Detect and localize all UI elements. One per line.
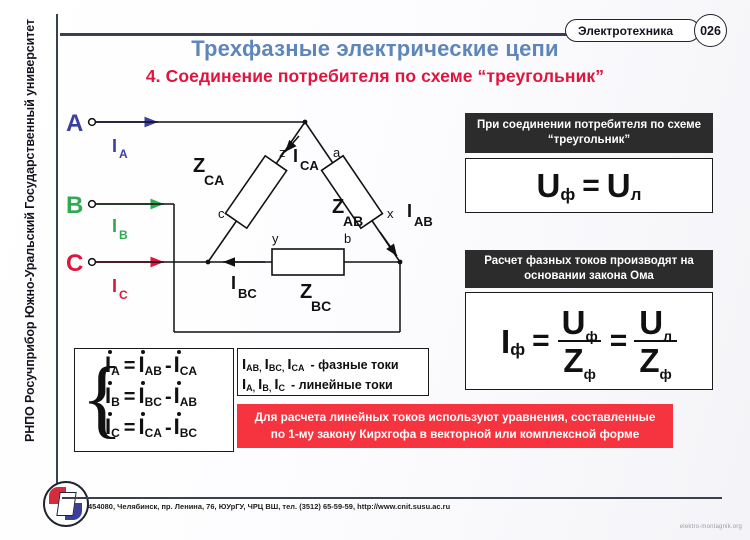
- ohm-f2-den-sym: Z: [639, 342, 659, 379]
- eq3-lhs: IC: [105, 416, 120, 438]
- eq2-equals: =: [124, 385, 136, 409]
- ohm-f1-num-sub: ф: [585, 328, 597, 344]
- svg-text:BC: BC: [238, 286, 257, 301]
- subject-badge: Электротехника: [565, 19, 700, 42]
- svg-text:I: I: [112, 216, 117, 236]
- university-logo-icon: [43, 481, 89, 527]
- terminal-a-node: [89, 119, 96, 126]
- eq2-term1: IBC: [138, 385, 161, 407]
- legend-phase-i3: ICA: [287, 357, 304, 372]
- ohm-fraction-2: Uл Zф: [634, 306, 677, 377]
- equation-row: IC = ICA - IBC: [105, 416, 229, 447]
- svg-text:I: I: [231, 273, 236, 293]
- phase-current-arrow-ab: [380, 232, 397, 256]
- legend-line-i1: IA,: [242, 377, 255, 392]
- slide-number-badge: 026: [694, 14, 727, 47]
- svg-text:B: B: [119, 228, 128, 242]
- eq3-term1: ICA: [138, 416, 161, 438]
- node-label-a: a: [333, 145, 341, 160]
- ohm-equals-2: =: [610, 324, 628, 358]
- watermark-text: elektro-montagnik.org: [680, 524, 742, 530]
- terminal-b-node: [89, 201, 96, 208]
- svg-text:I: I: [112, 136, 117, 156]
- eq1-lhs-sub: A: [111, 364, 120, 378]
- node-label-y: y: [272, 231, 279, 246]
- eq2-lhs-sub: B: [111, 395, 120, 409]
- eq2-term2: IAB: [174, 385, 197, 407]
- impedance-label-zca: Z CA: [193, 155, 224, 188]
- svg-text:AB: AB: [343, 213, 363, 229]
- phasor-dot-icon: [177, 381, 181, 385]
- ohm-f1-den-sym: Z: [563, 342, 583, 379]
- node-label-c: c: [218, 206, 225, 221]
- phase-current-label-ab: I AB: [407, 201, 433, 229]
- impedance-zca-body: [225, 156, 286, 228]
- terminal-label-c: C: [66, 250, 83, 277]
- legend-phase-text: - фазные токи: [311, 358, 399, 372]
- phasor-dot-icon: [108, 350, 112, 354]
- phasor-dot-icon: [177, 350, 181, 354]
- footer-divider: [62, 497, 722, 499]
- phasor-dot-icon: [108, 412, 112, 416]
- formula-u-line-sym: U: [607, 169, 631, 202]
- svg-text:A: A: [119, 147, 128, 161]
- svg-text:I: I: [293, 146, 298, 166]
- equation-row: IA = IAB - ICA: [105, 354, 229, 385]
- impedance-label-zbc: Z BC: [300, 281, 331, 314]
- ohm-f2-num-sym: U: [639, 304, 663, 341]
- legend-line-i2: IB,: [258, 377, 271, 392]
- eq1-t1-sub: AB: [145, 364, 162, 378]
- ohm-i-sub: ф: [510, 340, 525, 360]
- line-current-label-a: I A: [112, 136, 128, 161]
- slide-canvas: РНПО Росучприбор Южно-Уральский Государс…: [0, 0, 750, 540]
- equation-rows: IA = IAB - ICA IB =: [105, 354, 229, 447]
- legend-line-i3: IC: [274, 377, 285, 392]
- eq3-lhs-sub: C: [111, 426, 120, 440]
- vertex-top: [303, 120, 308, 125]
- legend-row-line: IA, IB, IC - линейные токи: [242, 372, 424, 392]
- formula-u-line-sub: л: [631, 185, 642, 205]
- svg-text:C: C: [119, 288, 128, 302]
- node-label-x: x: [387, 206, 394, 221]
- panel1-formula: Uф = Uл: [465, 158, 713, 213]
- eq1-equals: =: [124, 354, 136, 378]
- phasor-dot-icon: [141, 412, 145, 416]
- eq1-t2-sub: CA: [180, 364, 197, 378]
- red-note-line-2: по 1-му закону Кирхгофа в векторной или …: [271, 426, 640, 443]
- current-legend-box: IAB, IBC, ICA - фазные токи IA, IB, IC -…: [237, 348, 429, 396]
- phasor-dot-icon: [141, 350, 145, 354]
- ohm-equals-1: =: [532, 324, 550, 358]
- footer-address: 454080, Челябинск, пр. Ленина, 76, ЮУрГУ…: [88, 502, 450, 511]
- equation-row: IB = IBC - IAB: [105, 385, 229, 416]
- eq2-t1-sub: BC: [145, 395, 162, 409]
- red-note-line-1: Для расчета линейных токов используют ур…: [255, 409, 656, 426]
- legend-line-text: - линейные токи: [291, 378, 393, 392]
- svg-text:CA: CA: [204, 172, 224, 188]
- eq1-term2: ICA: [174, 354, 197, 376]
- eq2-lhs: IB: [105, 385, 120, 407]
- formula-u-phase-sym: U: [537, 169, 561, 202]
- terminal-label-a: A: [66, 110, 83, 137]
- vertex-left: [206, 260, 211, 265]
- legend-phase-i1: IAB,: [242, 357, 262, 372]
- phase-current-label-ca: I CA: [293, 146, 319, 173]
- ohm-f2-num-sub: л: [663, 328, 672, 344]
- page-subtitle: 4. Соединение потребителя по схеме “треу…: [0, 66, 750, 87]
- eq1-term1: IAB: [138, 354, 161, 376]
- svg-text:CA: CA: [300, 158, 319, 173]
- svg-text:AB: AB: [414, 214, 433, 229]
- eq1-lhs: IA: [105, 354, 120, 376]
- formula-u-phase-sub: ф: [560, 185, 575, 205]
- red-note-banner: Для расчета линейных токов используют ур…: [237, 404, 673, 448]
- line-current-label-c: I C: [112, 276, 128, 302]
- eq3-operator: -: [165, 416, 172, 440]
- phasor-dot-icon: [141, 381, 145, 385]
- phase-current-label-bc: I BC: [231, 273, 257, 301]
- panel2-formula: Iф = Uф Zф = Uл Zф: [465, 292, 713, 390]
- line-current-label-b: I B: [112, 216, 128, 242]
- ohm-i-sym: I: [501, 325, 510, 358]
- ohm-f2-den-sub: ф: [660, 366, 672, 382]
- eq1-operator: -: [165, 354, 172, 378]
- svg-text:I: I: [407, 201, 412, 221]
- svg-text:BC: BC: [311, 298, 331, 314]
- node-label-z: z: [279, 145, 286, 160]
- kirchhoff-equations-box: { IA = IAB - ICA: [74, 348, 234, 452]
- ohm-fraction-1: Uф Zф: [557, 306, 603, 377]
- node-label-b: b: [344, 231, 351, 246]
- eq3-term2: IBC: [174, 416, 197, 438]
- phasor-dot-icon: [108, 381, 112, 385]
- ohm-f1-num-sym: U: [562, 304, 586, 341]
- terminal-label-b: B: [66, 192, 83, 219]
- panel2-heading: Расчет фазных токов производят на основа…: [465, 250, 713, 288]
- logo-shape-white: [56, 492, 76, 516]
- panel1-heading: При соединении потребителя по схеме “тре…: [465, 113, 713, 153]
- terminal-c-node: [89, 259, 96, 266]
- circuit-diagram: A B C I A I B I C Z CA Z AB: [60, 100, 460, 360]
- eq3-equals: =: [124, 416, 136, 440]
- ohm-f1-den-sub: ф: [584, 366, 596, 382]
- eq3-t2-sub: BC: [180, 426, 197, 440]
- eq2-operator: -: [165, 385, 172, 409]
- eq2-t2-sub: AB: [180, 395, 197, 409]
- eq3-t1-sub: CA: [145, 426, 162, 440]
- legend-row-phase: IAB, IBC, ICA - фазные токи: [242, 352, 424, 372]
- formula-equals: =: [582, 169, 600, 203]
- phasor-dot-icon: [177, 412, 181, 416]
- svg-text:I: I: [112, 276, 117, 296]
- legend-phase-i2: IBC,: [265, 357, 285, 372]
- vertex-right: [398, 260, 403, 265]
- impedance-zbc-body: [272, 249, 344, 275]
